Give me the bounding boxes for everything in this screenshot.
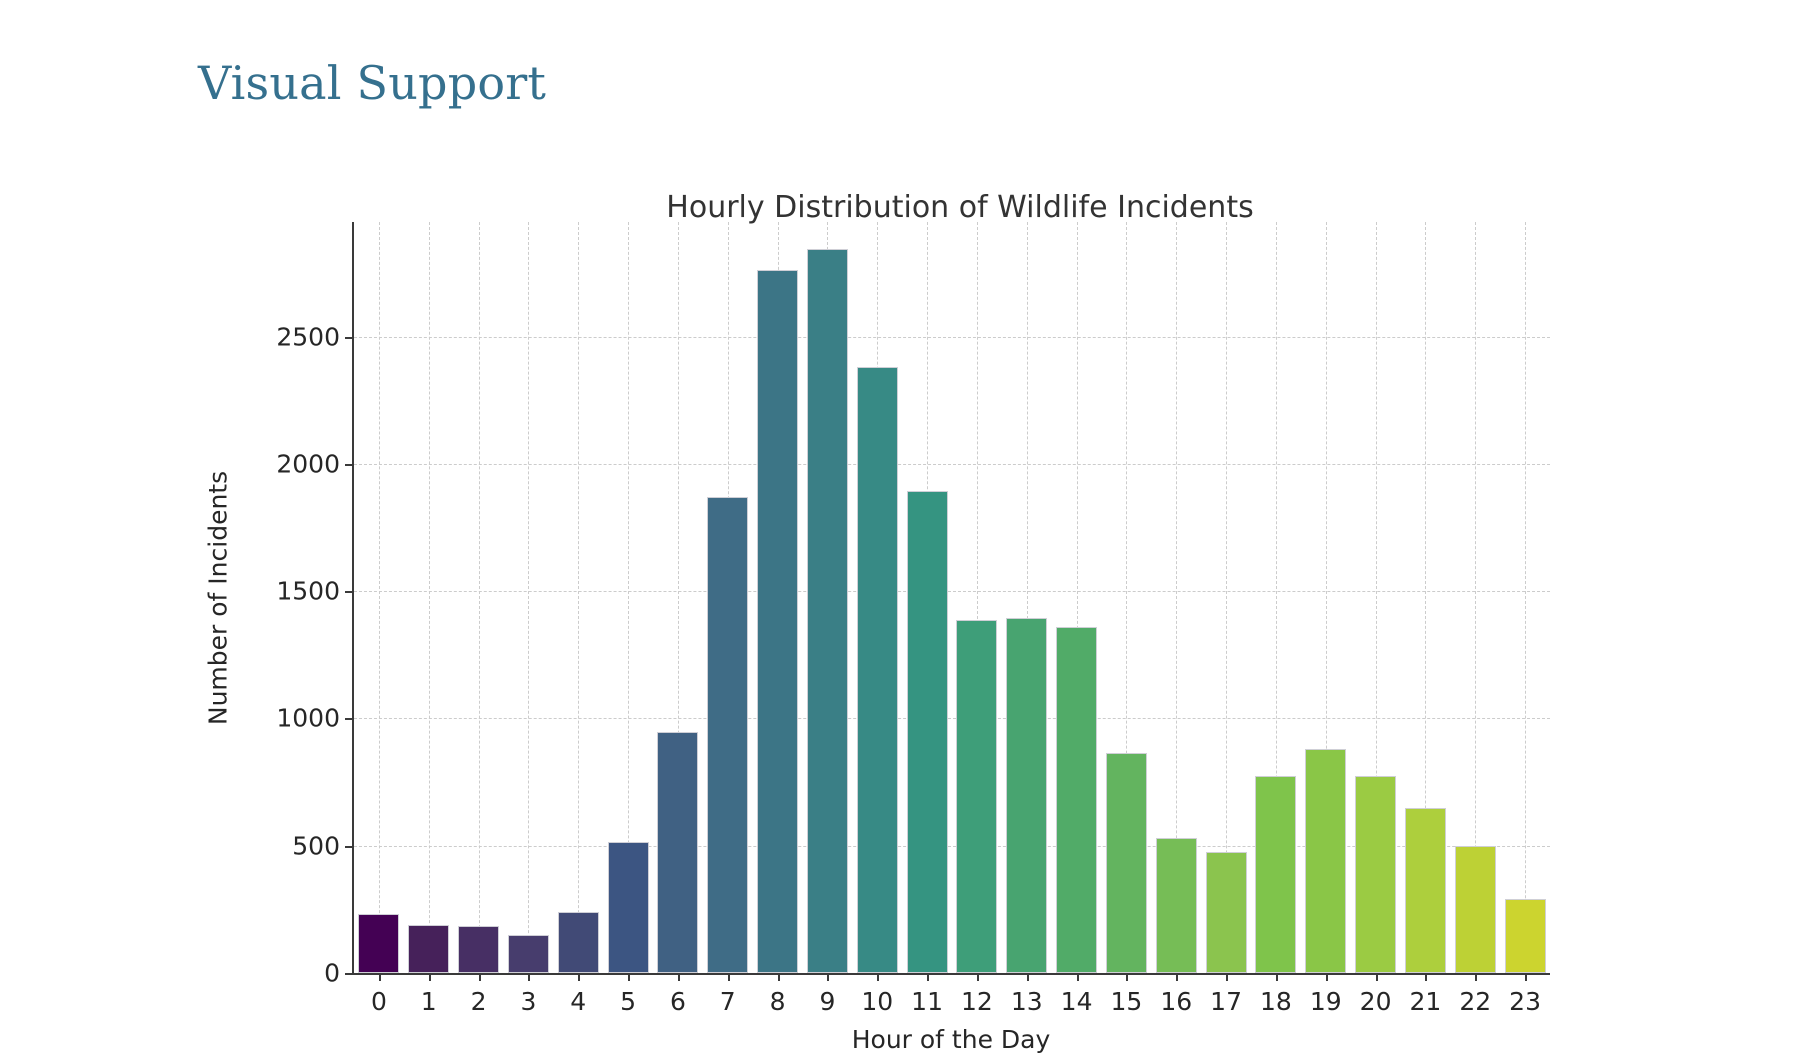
x-tick-mark: [528, 973, 530, 981]
x-tick-label: 1: [421, 987, 437, 1016]
x-tick-label: 6: [670, 987, 686, 1016]
x-tick-label: 5: [620, 987, 636, 1016]
x-tick-label: 9: [819, 987, 835, 1016]
bar: [508, 935, 549, 973]
x-tick-label: 13: [1011, 987, 1043, 1016]
bar: [857, 367, 898, 973]
chart-title: Hourly Distribution of Wildlife Incident…: [270, 190, 1650, 225]
x-tick-label: 16: [1160, 987, 1192, 1016]
y-tick-mark: [345, 846, 354, 848]
gridline-vertical: [528, 222, 529, 973]
bar: [1156, 838, 1197, 973]
gridline-horizontal: [354, 464, 1550, 465]
x-tick-label: 4: [570, 987, 586, 1016]
x-tick-label: 8: [770, 987, 786, 1016]
gridline-horizontal: [354, 718, 1550, 719]
x-tick-mark: [678, 973, 680, 981]
bar: [1455, 846, 1496, 973]
bar: [1006, 618, 1047, 973]
x-tick-label: 0: [371, 987, 387, 1016]
x-tick-mark: [927, 973, 929, 981]
y-tick-label: 2000: [276, 449, 340, 478]
x-tick-mark: [578, 973, 580, 981]
x-tick-label: 18: [1260, 987, 1292, 1016]
x-tick-label: 20: [1360, 987, 1392, 1016]
x-tick-label: 10: [861, 987, 893, 1016]
y-tick-label: 2500: [276, 322, 340, 351]
x-tick-label: 23: [1509, 987, 1541, 1016]
x-tick-label: 21: [1410, 987, 1442, 1016]
x-tick-mark: [1027, 973, 1029, 981]
plot-area: 0500100015002000250001234567891011121314…: [352, 222, 1550, 975]
x-tick-mark: [429, 973, 431, 981]
bar: [807, 249, 848, 973]
x-tick-mark: [479, 973, 481, 981]
y-tick-mark: [345, 718, 354, 720]
x-tick-mark: [1226, 973, 1228, 981]
x-tick-mark: [1077, 973, 1079, 981]
bar: [1056, 627, 1097, 973]
x-tick-mark: [1475, 973, 1477, 981]
y-tick-mark: [345, 464, 354, 466]
y-tick-label: 1000: [276, 704, 340, 733]
x-tick-mark: [977, 973, 979, 981]
bar: [608, 842, 649, 973]
y-tick-label: 500: [292, 831, 340, 860]
x-tick-mark: [1376, 973, 1378, 981]
x-tick-mark: [877, 973, 879, 981]
y-axis-label: Number of Incidents: [204, 471, 233, 725]
gridline-horizontal: [354, 591, 1550, 592]
bar: [1405, 808, 1446, 973]
x-tick-mark: [1326, 973, 1328, 981]
gridline-vertical: [578, 222, 579, 973]
x-tick-label: 7: [720, 987, 736, 1016]
gridline-vertical: [1525, 222, 1526, 973]
x-tick-label: 19: [1310, 987, 1342, 1016]
bar: [458, 926, 499, 973]
gridline-horizontal: [354, 337, 1550, 338]
bar: [1206, 852, 1247, 973]
x-tick-mark: [1276, 973, 1278, 981]
bar: [558, 912, 599, 973]
x-tick-mark: [728, 973, 730, 981]
x-tick-mark: [1425, 973, 1427, 981]
x-tick-mark: [379, 973, 381, 981]
bar: [1305, 749, 1346, 973]
x-tick-label: 3: [520, 987, 536, 1016]
gridline-vertical: [479, 222, 480, 973]
bar: [956, 620, 997, 973]
x-tick-mark: [827, 973, 829, 981]
bar: [358, 914, 399, 973]
x-tick-label: 12: [961, 987, 993, 1016]
slide-heading: Visual Support: [198, 56, 546, 110]
x-tick-label: 14: [1061, 987, 1093, 1016]
x-tick-mark: [1126, 973, 1128, 981]
x-tick-mark: [628, 973, 630, 981]
bar: [707, 497, 748, 973]
y-tick-label: 1500: [276, 577, 340, 606]
x-tick-mark: [1176, 973, 1178, 981]
y-tick-mark: [345, 337, 354, 339]
x-tick-mark: [778, 973, 780, 981]
y-tick-mark: [345, 591, 354, 593]
bar: [408, 925, 449, 973]
x-tick-label: 22: [1459, 987, 1491, 1016]
chart-figure: Hourly Distribution of Wildlife Incident…: [270, 190, 1650, 1050]
x-tick-label: 17: [1210, 987, 1242, 1016]
bar: [1505, 899, 1546, 973]
bar: [657, 732, 698, 973]
x-axis-label: Hour of the Day: [352, 1025, 1550, 1054]
gridline-vertical: [429, 222, 430, 973]
gridline-vertical: [379, 222, 380, 973]
bar: [1106, 753, 1147, 973]
y-tick-mark: [345, 973, 354, 975]
bar: [757, 270, 798, 973]
bar: [1355, 776, 1396, 973]
x-tick-label: 2: [471, 987, 487, 1016]
x-tick-label: 15: [1111, 987, 1143, 1016]
x-tick-label: 11: [911, 987, 943, 1016]
y-tick-label: 0: [324, 959, 340, 988]
bar: [907, 491, 948, 973]
x-tick-mark: [1525, 973, 1527, 981]
bar: [1255, 776, 1296, 973]
